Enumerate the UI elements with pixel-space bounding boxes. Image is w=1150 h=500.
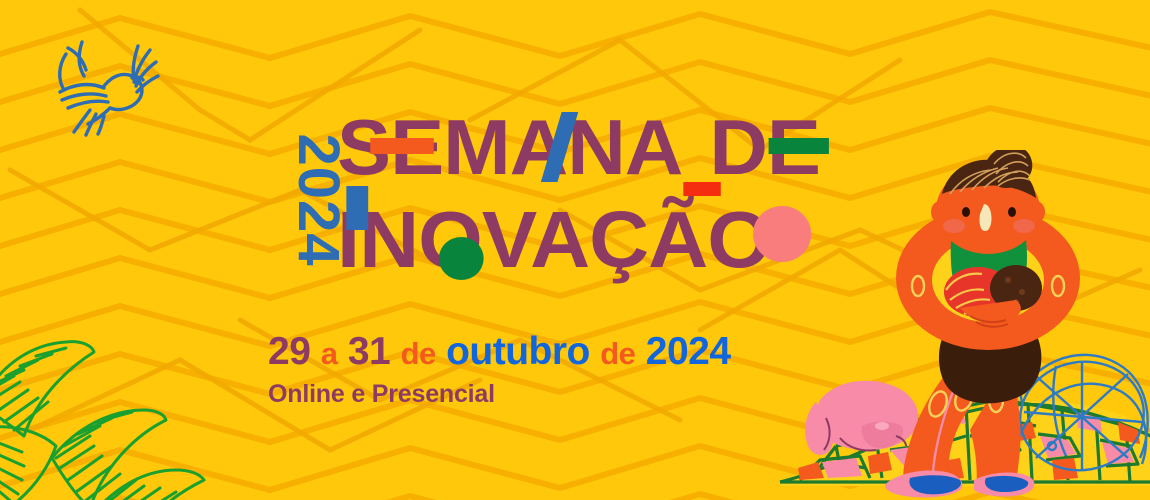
- seated-person-illustration: [770, 150, 1150, 500]
- date-de-2: de: [600, 336, 635, 371]
- date-de-1: de: [401, 336, 436, 371]
- title-line-1: SEMANA DE: [337, 108, 820, 186]
- date-day-start: 29: [268, 330, 310, 373]
- title-word-semana-text: SEMANA: [337, 103, 682, 191]
- date-day-end: 31: [348, 330, 390, 373]
- date-month: outubro: [446, 330, 590, 373]
- event-date: 29 a 31 de outubro de 2024: [268, 330, 731, 374]
- event-banner: 2024 SEMANA DE INOVAÇÃO: [0, 0, 1150, 500]
- banana-leaves-icon: [0, 318, 219, 500]
- bird-icon: [38, 32, 168, 137]
- title-word-inovacao-text: INOVAÇÃO: [337, 195, 771, 284]
- title-word-inovacao: INOVAÇÃO: [337, 200, 771, 280]
- event-title: SEMANA DE INOVAÇÃO: [337, 108, 801, 280]
- date-year: 2024: [646, 330, 731, 373]
- title-line-2: INOVAÇÃO: [337, 200, 820, 280]
- title-word-semana: SEMANA: [337, 108, 682, 186]
- event-format-subtitle: Online e Presencial: [268, 380, 495, 409]
- date-sep-a: a: [321, 336, 338, 371]
